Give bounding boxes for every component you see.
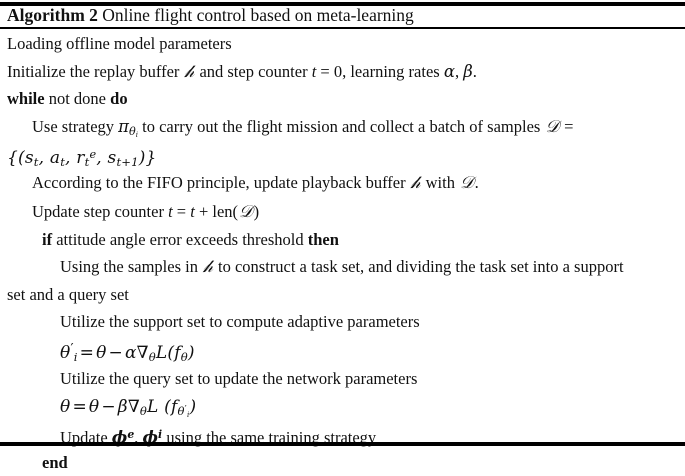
theta-symbol: θ: [96, 343, 106, 363]
title-separator-rule: [0, 27, 685, 29]
buffer-symbol: 𝒽: [202, 257, 214, 277]
beta-symbol: β: [463, 62, 473, 81]
state-t-plus-1: st+1: [108, 148, 139, 168]
line-text: Loading offline model parameters: [7, 34, 232, 53]
algorithm-line-while: while not done do: [0, 85, 685, 113]
model-function: fθ: [174, 343, 188, 363]
if-condition: attitude angle error exceeds threshold: [56, 230, 303, 249]
line-text-static: Update step counter t = t + len(𝒟): [32, 202, 259, 221]
algorithm-line-outer-update-equation: θ=θ−β∇θL (fθ′i): [0, 392, 685, 421]
theta-symbol: θ: [60, 397, 70, 417]
action-t: at: [50, 148, 65, 168]
line-text: Utilize the query set to update the netw…: [60, 369, 417, 388]
line-text-static: Initialize the replay buffer 𝒽 and step …: [7, 62, 477, 81]
keyword-if: if: [42, 230, 52, 249]
keyword-do: do: [110, 89, 127, 108]
reward-t: rte: [76, 148, 96, 168]
algorithm-label: Algorithm 2: [7, 5, 98, 25]
nabla-symbol: ∇: [137, 343, 149, 363]
alpha-symbol: α: [125, 343, 137, 363]
algorithm-line-samples-tuple: {(st, at, rte, st+1)}: [0, 140, 685, 169]
algorithm-line-update-step-counter: Update step counter t = t + len(𝒟): [0, 197, 685, 226]
nabla-symbol: ∇: [128, 397, 140, 417]
algorithm-line-end: end: [0, 449, 685, 476]
keyword-end: end: [42, 453, 68, 472]
model-function-adapted: fθ′i: [171, 397, 189, 417]
algorithm-line-if: if attitude angle error exceeds threshol…: [0, 226, 685, 254]
outer-update-expression: θ=θ−β∇θL (fθ′i): [60, 397, 196, 417]
algorithm-body: Loading offline model parameters Initial…: [0, 30, 685, 476]
algorithm-line-load-params: Loading offline model parameters: [0, 30, 685, 58]
buffer-symbol: 𝒽: [410, 173, 422, 193]
algorithm-title: Algorithm 2 Online flight control based …: [7, 5, 677, 26]
line-text-static: Using the samples in 𝒽 to construct a ta…: [60, 257, 624, 276]
samples-tuple-expression: {(st, at, rte, st+1)}: [7, 148, 157, 168]
algorithm-line-utilize-query-set: Utilize the query set to update the netw…: [0, 365, 685, 393]
policy-subscript: θi: [129, 125, 138, 138]
policy-subscript-index: i: [136, 131, 138, 139]
line-text: set and a query set: [7, 285, 129, 304]
step-counter-var: t: [190, 202, 195, 221]
algorithm-line-use-strategy: Use strategy πθi to carry out the flight…: [0, 113, 685, 141]
bottom-rule: [0, 442, 685, 446]
line-text-static: Use strategy πθi to carry out the flight…: [32, 117, 573, 136]
dataset-symbol: 𝒟: [238, 202, 254, 222]
line-text-static: According to the FIFO principle, update …: [32, 173, 479, 192]
algorithm-line-fifo: According to the FIFO principle, update …: [0, 169, 685, 197]
theta-prime-i: θ′i: [60, 343, 78, 363]
theta-symbol: θ: [89, 397, 99, 417]
policy-symbol: πθi: [118, 117, 138, 136]
dataset-symbol: 𝒟: [544, 117, 560, 137]
loss-symbol: L: [147, 397, 159, 417]
buffer-symbol: 𝒽: [184, 62, 196, 82]
inner-update-expression: θ′i=θ−α∇θL(fθ): [60, 343, 195, 363]
algorithm-line-initialize: Initialize the replay buffer 𝒽 and step …: [0, 58, 685, 86]
algorithm-line-inner-update-equation: θ′i=θ−α∇θL(fθ): [0, 336, 685, 365]
while-condition: not done: [49, 89, 106, 108]
algorithm-title-text: Online flight control based on meta-lear…: [102, 5, 414, 25]
line-text: Utilize the support set to compute adapt…: [60, 312, 420, 331]
algorithm-line-construct-task-set: Using the samples in 𝒽 to construct a ta…: [0, 253, 685, 281]
algorithm-line-utilize-support-set: Utilize the support set to compute adapt…: [0, 308, 685, 336]
loss-symbol: L: [156, 343, 168, 363]
step-counter-var: t: [168, 202, 173, 221]
dataset-symbol: 𝒟: [459, 173, 475, 193]
algorithm-block: Algorithm 2 Online flight control based …: [0, 0, 685, 447]
keyword-then: then: [308, 230, 339, 249]
alpha-symbol: α: [444, 62, 455, 81]
algorithm-line-task-set-wrap: set and a query set: [0, 281, 685, 309]
step-counter-var: t: [312, 62, 317, 81]
state-t: st: [25, 148, 39, 168]
keyword-while: while: [7, 89, 45, 108]
beta-symbol: β: [118, 397, 128, 417]
